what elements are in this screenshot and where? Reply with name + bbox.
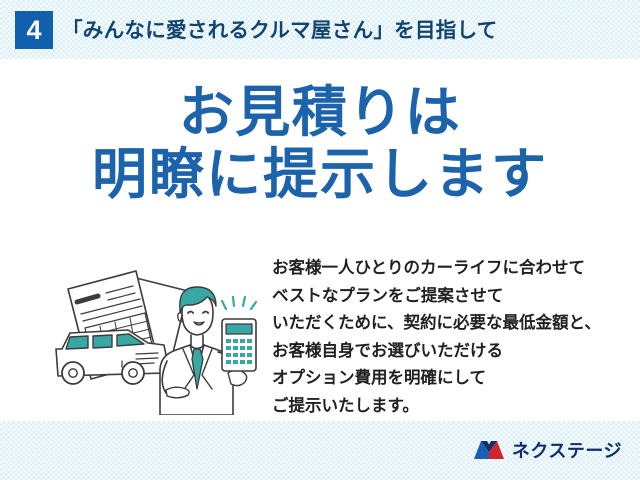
calculator-illustration [222, 319, 256, 371]
headline-line-1: お見積りは [0, 81, 640, 143]
headline-line-2: 明瞭に提示します [0, 143, 640, 205]
nextage-logo-text: ネクステージ [512, 437, 622, 463]
nextage-logo: ネクステージ [473, 435, 622, 465]
nextage-n-mark-icon [473, 438, 505, 462]
body-line: お客様自身でお選びいただける [272, 338, 601, 366]
header-band: 4 「みんなに愛されるクルマ屋さん」を目指して [0, 0, 640, 59]
body-paragraph: お客様一人ひとりのカーライフに合わせて ベストなプランをご提案させて いただくた… [272, 255, 601, 421]
sparkle-marks [222, 297, 256, 309]
salesman-illustration [36, 257, 268, 415]
body-line: いただくために、契約に必要な最低金額と、 [272, 310, 601, 338]
header-title: 「みんなに愛されるクルマ屋さん」を目指して [62, 13, 498, 43]
main-content: お見積りは 明瞭に提示します [0, 59, 640, 421]
body-line: ベストなプランをご提案させて [272, 283, 601, 311]
headline: お見積りは 明瞭に提示します [0, 81, 640, 205]
section-number-badge: 4 [15, 11, 53, 49]
footer-band: ネクステージ [0, 421, 640, 480]
body-line: お客様一人ひとりのカーライフに合わせて [272, 255, 601, 283]
body-line: オプション費用を明確にして [272, 365, 601, 393]
body-line: ご提示いたします。 [272, 393, 601, 421]
promo-banner: 4 「みんなに愛されるクルマ屋さん」を目指して お見積りは 明瞭に提示します [0, 0, 640, 480]
